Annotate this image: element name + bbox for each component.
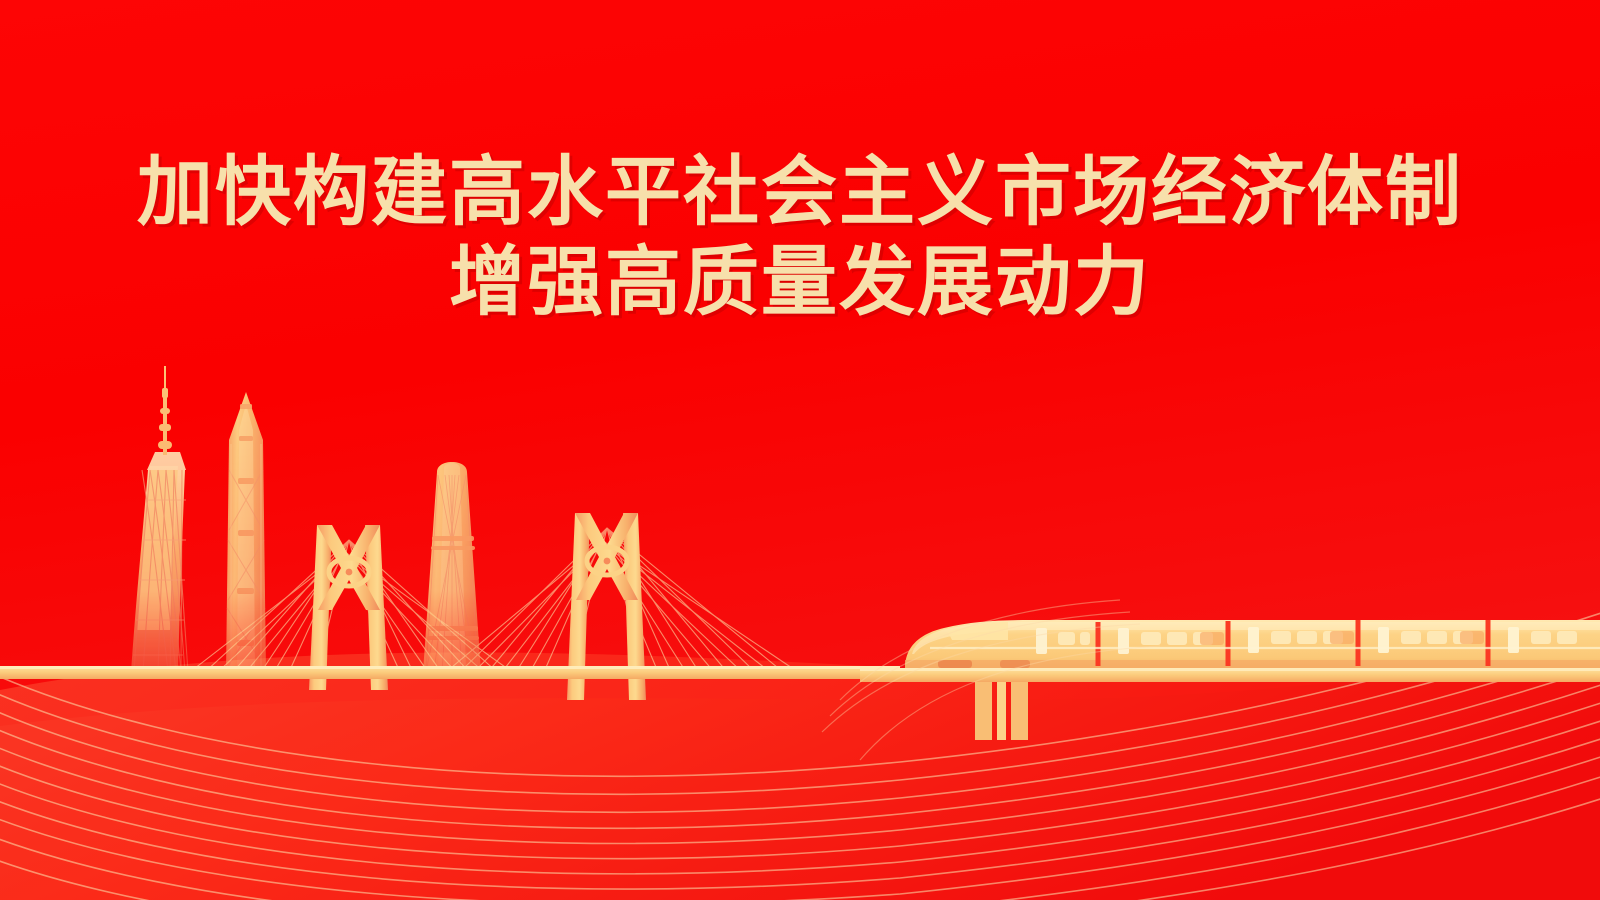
skyscraper-icon [423, 462, 481, 672]
illustration-layer [0, 0, 1600, 900]
bridge-cables-icon [190, 528, 798, 672]
viaduct-icon [860, 668, 1600, 740]
train-icon [905, 620, 1600, 668]
bridge-pylon-icon [309, 525, 388, 690]
poster-canvas: 加快构建高水平社会主义市场经济体制 增强高质量发展动力 [0, 0, 1600, 900]
canton-tower-icon [131, 366, 188, 672]
skyscraper-icon [226, 392, 266, 672]
bridge-deck-icon [0, 666, 900, 679]
